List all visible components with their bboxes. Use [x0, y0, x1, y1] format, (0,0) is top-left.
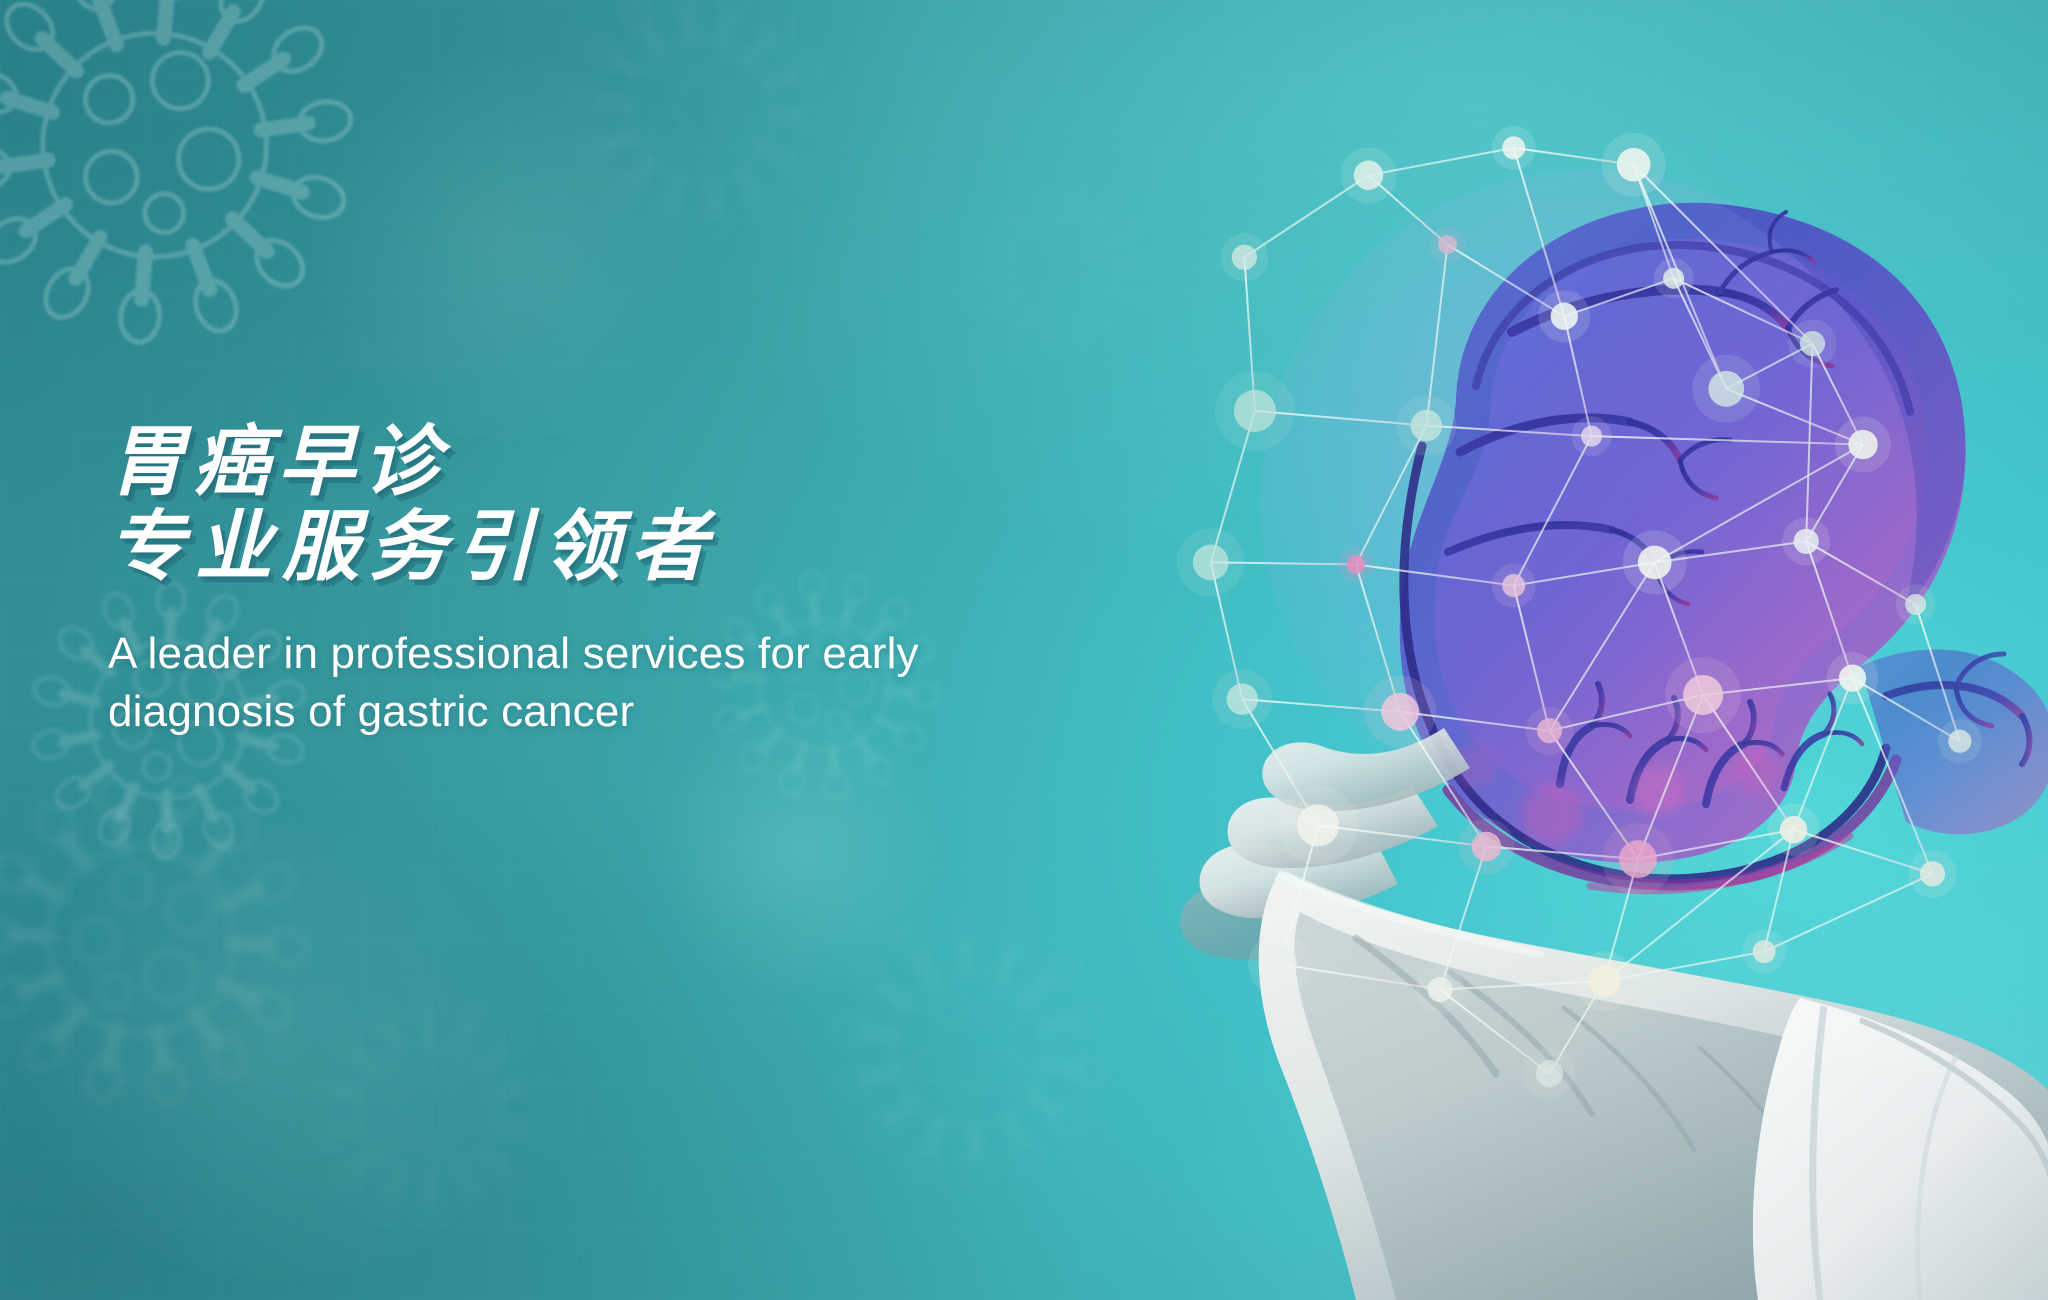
- lab-coat-cuff: [1753, 998, 2048, 1300]
- stomach-organ: [1400, 203, 2048, 891]
- copy-block: 胃癌早诊 专业服务引领者 A leader in professional se…: [108, 420, 1108, 742]
- banner-root: 胃癌早诊 专业服务引领者 A leader in professional se…: [0, 0, 2048, 1300]
- headline-line-1: 胃癌早诊: [108, 420, 1108, 505]
- subtitle-line-2: diagnosis of gastric cancer: [108, 683, 1108, 741]
- page-title: 胃癌早诊 专业服务引领者: [108, 420, 1108, 589]
- hand-holding-stomach-artwork: [1160, 100, 2048, 1300]
- subtitle-line-1: A leader in professional services for ea…: [108, 625, 1108, 683]
- headline-line-2: 专业服务引领者: [108, 505, 1108, 590]
- subtitle: A leader in professional services for ea…: [108, 625, 1108, 741]
